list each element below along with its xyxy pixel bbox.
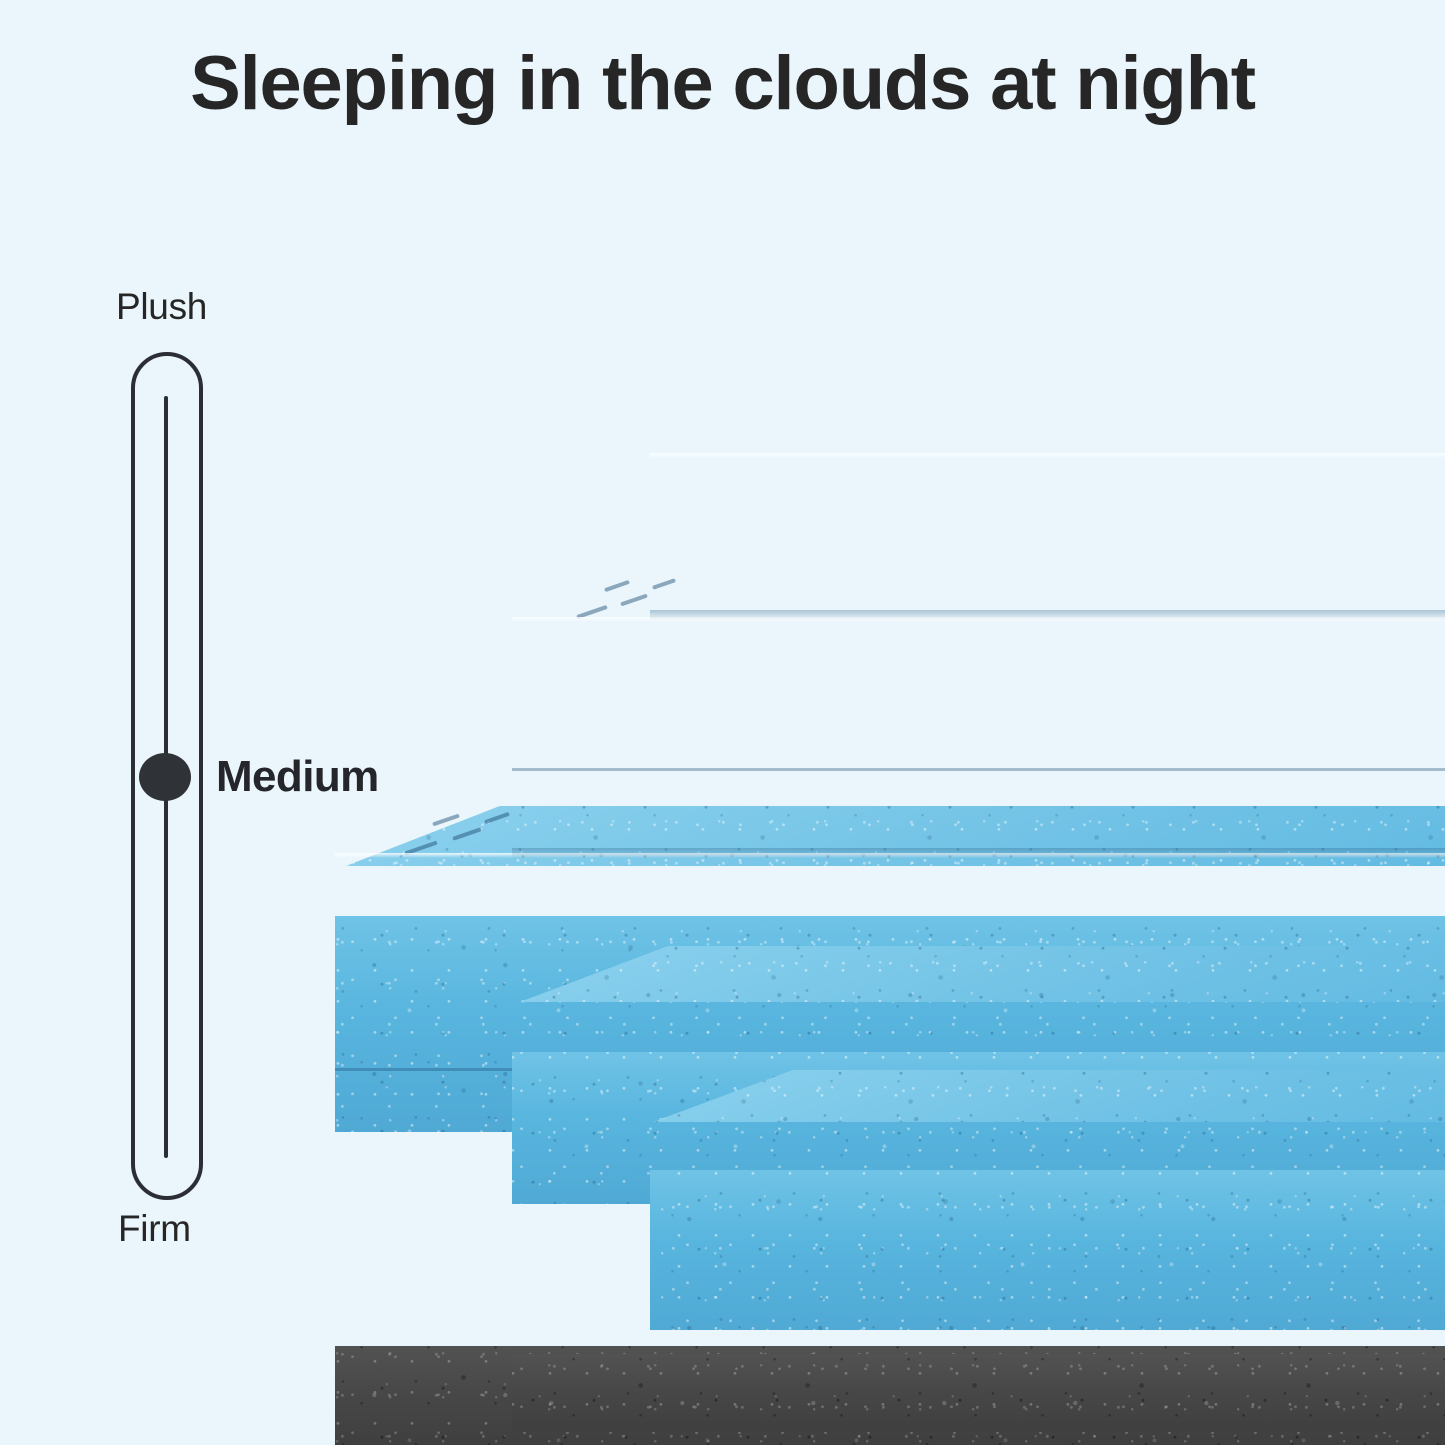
product-infographic: Sleeping in the clouds at night Plush — [0, 0, 1445, 1445]
middle-slab-support-base — [512, 1354, 1445, 1432]
perforation-dash — [652, 578, 676, 590]
foam-stack-illustration — [0, 0, 1445, 1445]
bottom-slab-top-surface — [300, 806, 1445, 866]
top-slab-comfort-layer — [650, 1170, 1445, 1330]
middle-slab-top-seam — [512, 617, 1445, 622]
perforation-dash — [620, 594, 648, 607]
perforation-dash — [604, 580, 630, 592]
top-slab-top-seam — [650, 453, 1445, 458]
middle-slab-layer-seam — [512, 768, 1445, 771]
perforation-dash — [576, 605, 608, 619]
top-slab-contact-shadow — [650, 610, 1445, 620]
